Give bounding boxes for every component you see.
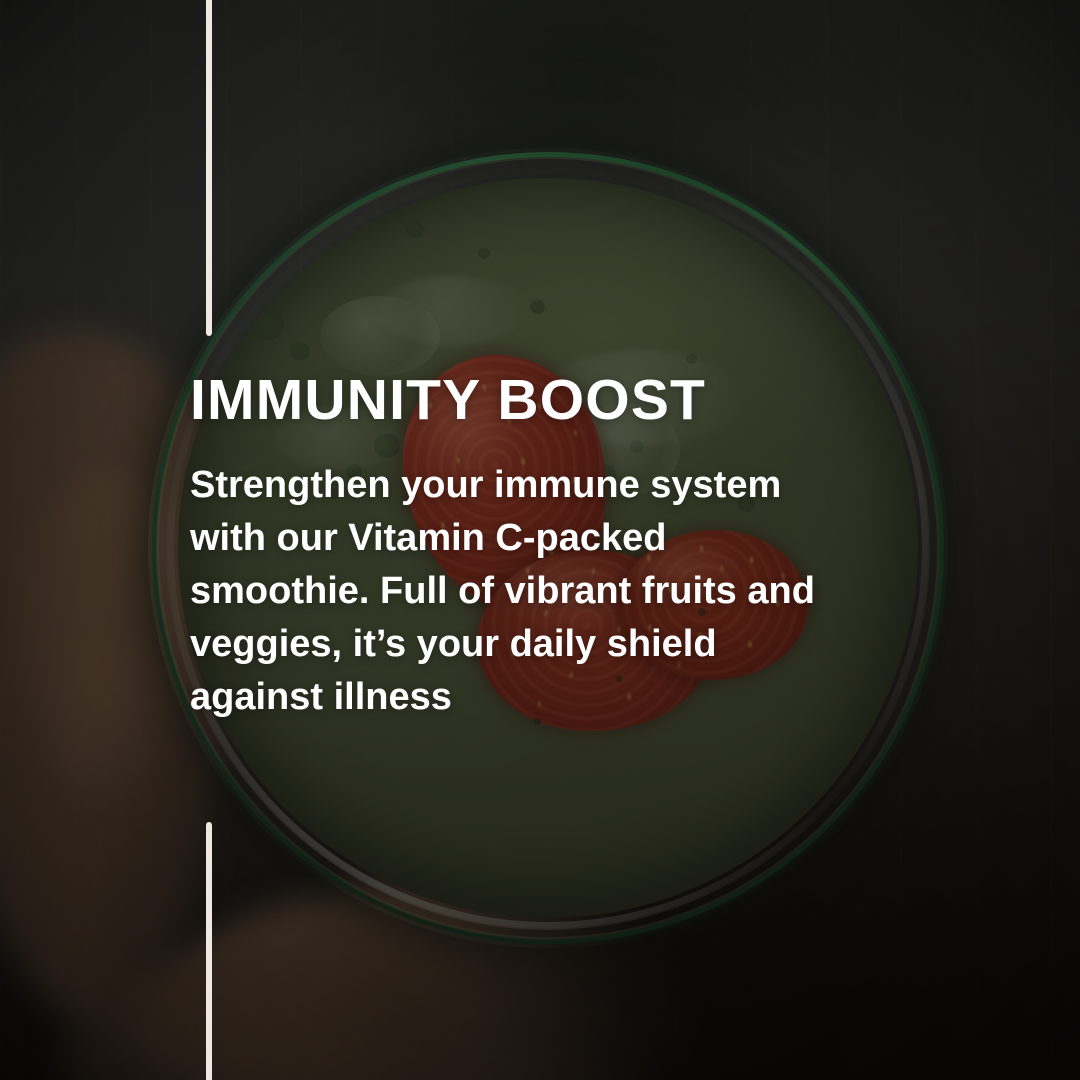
text-block: IMMUNITY BOOST Strengthen your immune sy…: [190, 368, 990, 724]
promo-card: IMMUNITY BOOST Strengthen your immune sy…: [0, 0, 1080, 1080]
vertical-rule-top: [206, 0, 212, 336]
body-line: against illness: [190, 671, 960, 724]
vertical-rule-bottom: [206, 822, 212, 1080]
body-line: Strengthen your immune system: [190, 459, 960, 512]
body-line: with our Vitamin C-packed: [190, 512, 960, 565]
body-line: veggies, it’s your daily shield: [190, 618, 960, 671]
headline: IMMUNITY BOOST: [190, 368, 990, 432]
body-copy: Strengthen your immune system with our V…: [190, 459, 960, 724]
body-line: smoothie. Full of vibrant fruits and: [190, 565, 960, 618]
